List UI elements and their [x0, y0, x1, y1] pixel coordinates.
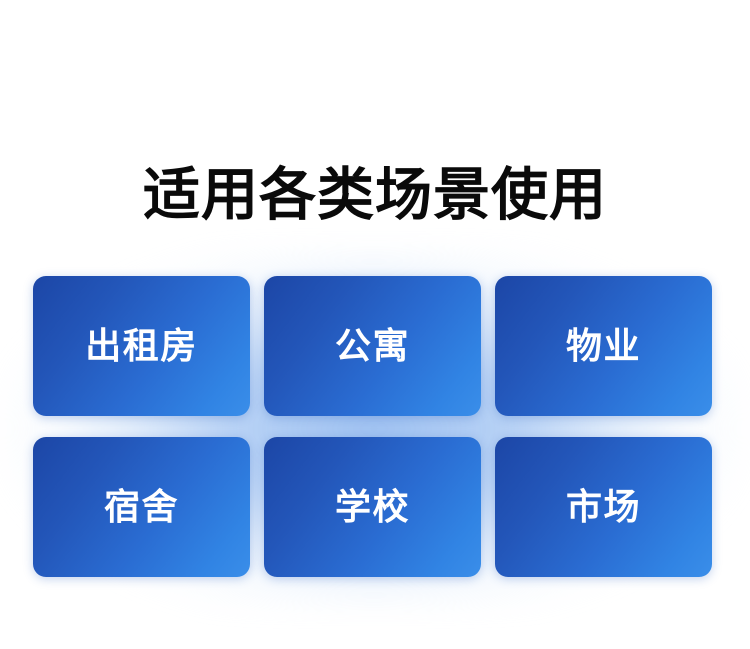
scenario-card-market[interactable]: 市场 [495, 437, 712, 577]
scenario-showcase-page: 适用各类场景使用 出租房 公寓 物业 宿舍 学校 市场 [0, 0, 750, 649]
scenario-card-section: 出租房 公寓 物业 宿舍 学校 市场 [33, 276, 715, 577]
scenario-card-dormitory[interactable]: 宿舍 [33, 437, 250, 577]
scenario-card-label: 市场 [566, 487, 641, 527]
scenario-card-label: 物业 [566, 326, 641, 366]
page-title: 适用各类场景使用 [0, 160, 750, 230]
scenario-card-label: 出租房 [85, 326, 198, 366]
scenario-card-grid: 出租房 公寓 物业 宿舍 学校 市场 [33, 276, 715, 577]
scenario-card-label: 学校 [335, 487, 410, 527]
scenario-card-school[interactable]: 学校 [264, 437, 481, 577]
scenario-card-property-management[interactable]: 物业 [495, 276, 712, 416]
scenario-card-label: 公寓 [335, 326, 410, 366]
scenario-card-apartment[interactable]: 公寓 [264, 276, 481, 416]
scenario-card-rental-house[interactable]: 出租房 [33, 276, 250, 416]
scenario-card-label: 宿舍 [104, 487, 179, 527]
